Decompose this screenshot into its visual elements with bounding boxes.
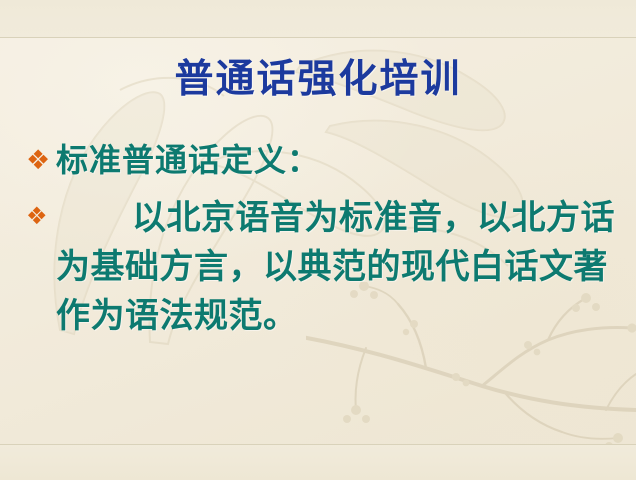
diamond-cluster-bullet-icon: ❖ bbox=[26, 194, 56, 240]
presentation-slide: 普通话强化培训 ❖ 标准普通话定义： ❖ 以北京语音为标准音，以北方话为基础方言… bbox=[0, 0, 636, 480]
slide-title-text: 普通话强化培训 bbox=[174, 60, 461, 101]
slide-title: 普通话强化培训 bbox=[0, 60, 636, 101]
bullet-text: 以北京语音为标准音，以北方话为基础方言，以典范的现代白话文著作为语法规范。 bbox=[56, 194, 618, 341]
diamond-cluster-bullet-icon: ❖ bbox=[26, 140, 56, 180]
bullet-item: ❖ 标准普通话定义： bbox=[26, 140, 618, 180]
bullet-item: ❖ 以北京语音为标准音，以北方话为基础方言，以典范的现代白话文著作为语法规范。 bbox=[26, 194, 618, 341]
bullet-text: 标准普通话定义： bbox=[56, 140, 618, 180]
slide-body: ❖ 标准普通话定义： ❖ 以北京语音为标准音，以北方话为基础方言，以典范的现代白… bbox=[26, 140, 618, 341]
